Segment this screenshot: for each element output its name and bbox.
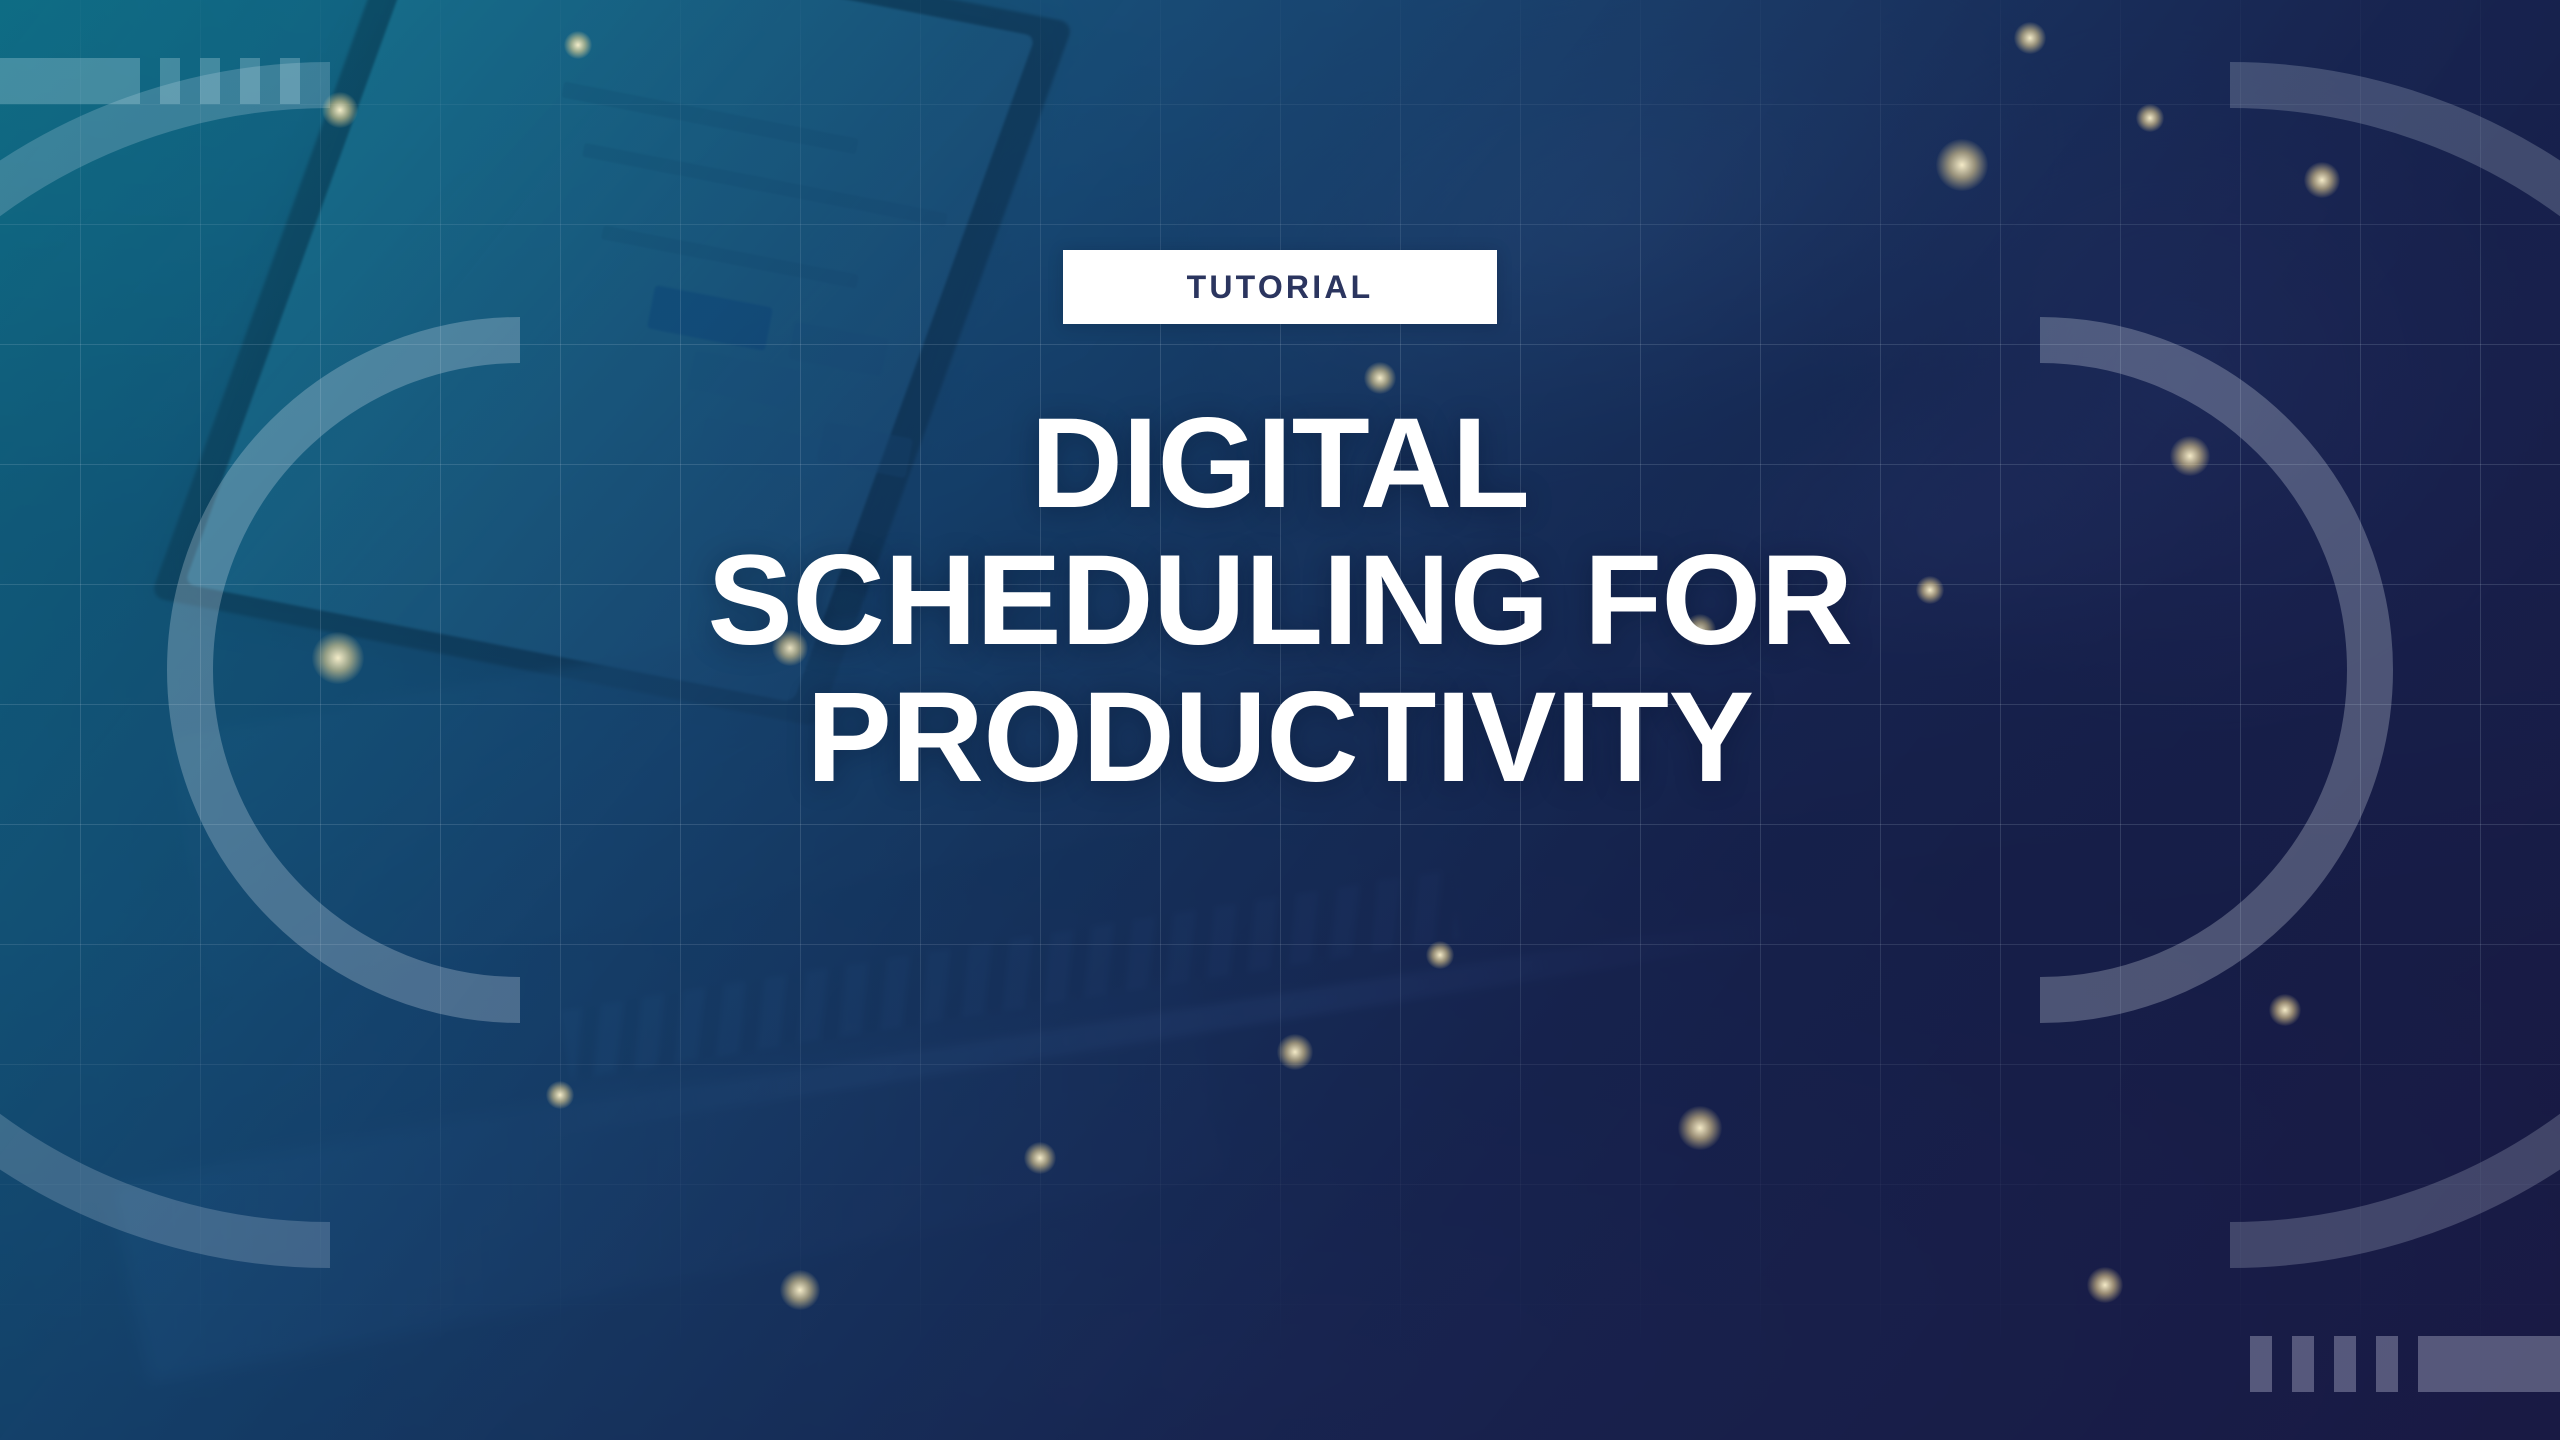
page-title: DIGITAL SCHEDULING FOR PRODUCTIVITY: [430, 396, 2130, 807]
headline-line-2: SCHEDULING FOR: [430, 533, 2130, 670]
headline-line-1: DIGITAL: [430, 396, 2130, 533]
poster-content: TUTORIAL DIGITAL SCHEDULING FOR PRODUCTI…: [0, 0, 2560, 1440]
headline-line-3: PRODUCTIVITY: [430, 670, 2130, 807]
tutorial-badge: TUTORIAL: [1063, 250, 1497, 324]
poster-canvas: TUTORIAL DIGITAL SCHEDULING FOR PRODUCTI…: [0, 0, 2560, 1440]
tutorial-badge-label: TUTORIAL: [1187, 269, 1374, 306]
